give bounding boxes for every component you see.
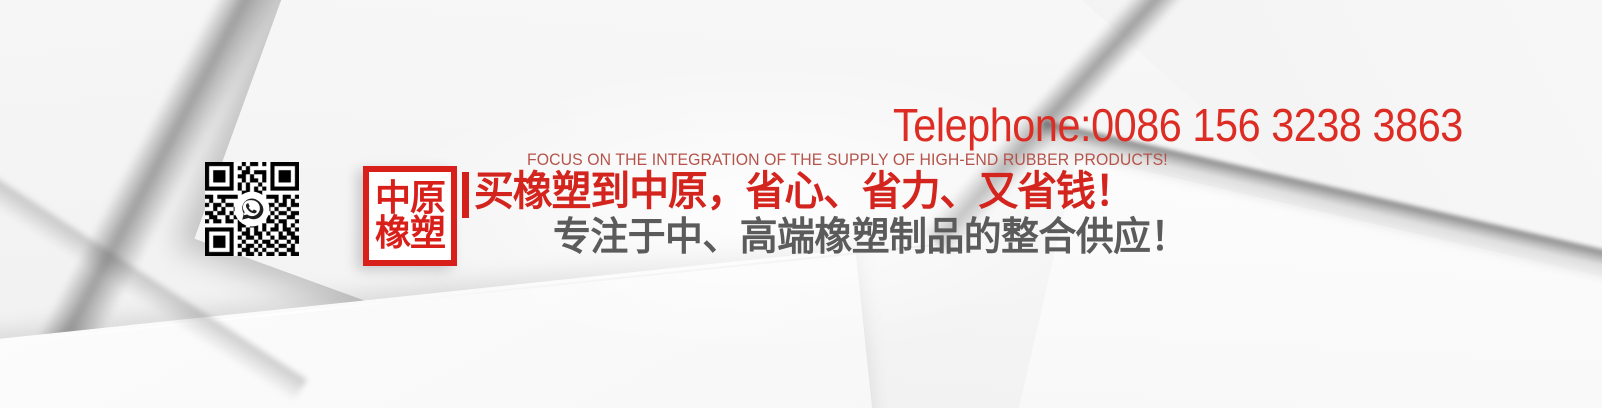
logo-seal-top-text: 中原	[375, 181, 445, 216]
promotional-banner: 中原 橡塑 Telephone:0086 156 3238 3863 FOCUS…	[0, 0, 1602, 408]
qr-code[interactable]	[205, 162, 299, 256]
headline-secondary: 专注于中、高端橡塑制品的整合供应！	[553, 216, 1188, 261]
company-logo-seal[interactable]: 中原 橡塑	[363, 166, 457, 266]
whatsapp-icon	[237, 194, 267, 224]
headline-primary: 买橡塑到中原，省心、省力、又省钱！	[474, 168, 1134, 215]
telephone-text[interactable]: Telephone:0086 156 3238 3863	[893, 98, 1463, 152]
logo-seal-bottom-text: 橡塑	[375, 216, 445, 251]
headline-accent-bar	[462, 172, 469, 218]
